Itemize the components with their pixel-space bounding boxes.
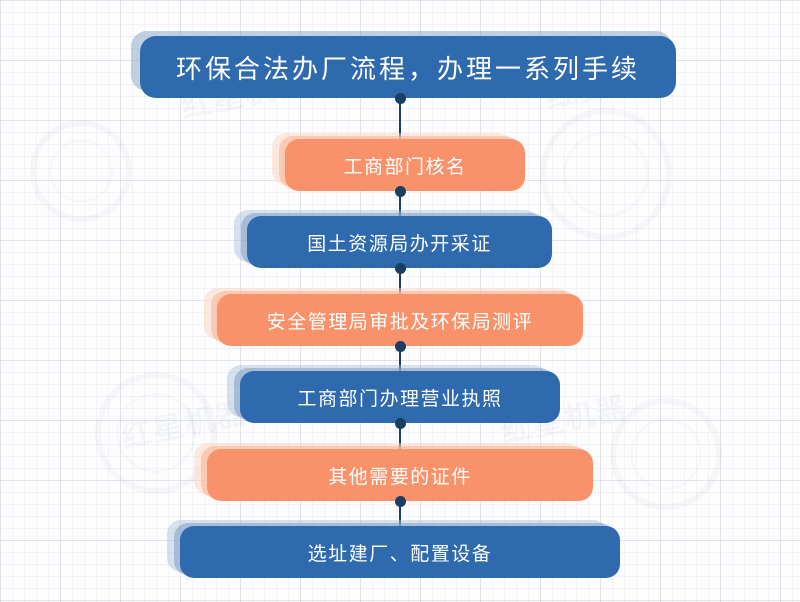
step-box-4[interactable]: 工商部门办理营业执照 <box>240 371 560 423</box>
step-box-1[interactable]: 工商部门核名 <box>285 139 525 191</box>
step-box-5[interactable]: 其他需要的证件 <box>207 449 593 501</box>
connector-dot-step-2 <box>395 263 406 274</box>
connector-dot-step-3 <box>395 341 406 352</box>
step-box-6[interactable]: 选址建厂、配置设备 <box>180 526 620 578</box>
connector-dot-step-4 <box>395 418 406 429</box>
connector-dot-step-1 <box>395 186 406 197</box>
connector-dot-step-5 <box>395 496 406 507</box>
flowchart-canvas: 红星机器 红星机器 红星机器 红星机器 环保合法办厂流程，办理一系列手续 工商部… <box>0 0 800 602</box>
connector-dot-title <box>395 93 406 104</box>
step-box-2[interactable]: 国土资源局办开采证 <box>247 216 552 268</box>
step-box-3[interactable]: 安全管理局审批及环保局测评 <box>217 294 583 346</box>
page-title: 环保合法办厂流程，办理一系列手续 <box>140 36 676 98</box>
